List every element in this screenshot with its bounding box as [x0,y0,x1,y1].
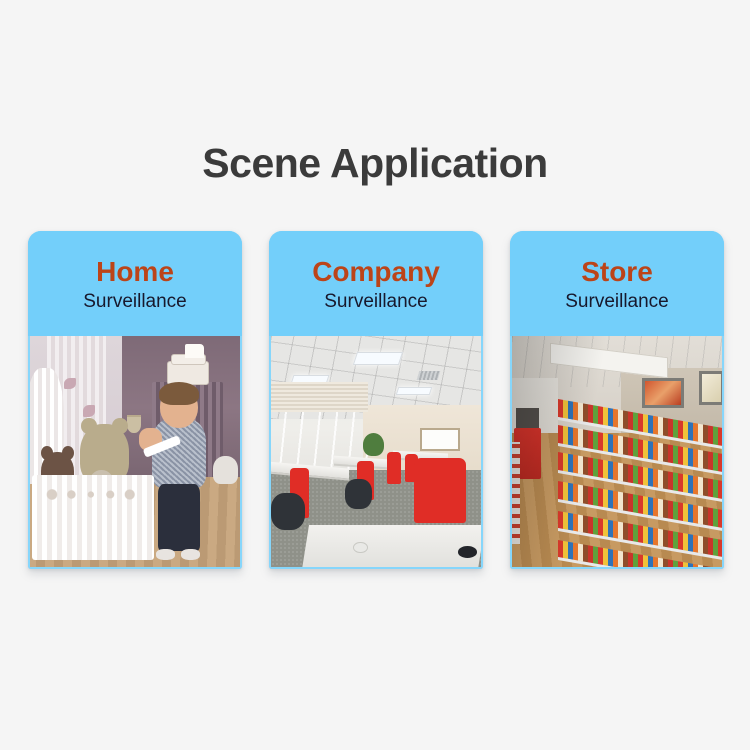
butterfly-decal-shape [83,405,96,417]
toddler-hair-shape [159,382,199,405]
air-vent-shape [417,371,441,380]
card-header-company: Company Surveillance [269,231,483,336]
page-title: Scene Application [0,137,750,189]
dark-office-chair-shape [271,493,305,530]
office-plant-shape [363,433,384,456]
toddler-legs-shape [158,484,200,551]
toddler-body-shape [152,419,207,488]
red-office-chair-shape [414,458,467,523]
red-office-chair-shape [387,452,402,484]
toddler-shoe-shape [156,549,175,561]
card-header-home: Home Surveillance [28,231,242,336]
card-title-home: Home [96,255,174,288]
scene-application-page: Scene Application Home Surveillance [0,0,750,750]
toy-cart-shape [32,475,154,560]
scene-card-company[interactable]: Company Surveillance [269,231,483,569]
wall-poster-shape [642,378,684,408]
giraffe-figurine-shape [185,344,204,358]
foreground-desk-shape [301,525,481,567]
computer-mouse-shape [458,546,477,558]
storage-boxes-shape [167,361,209,384]
scene-card-home[interactable]: Home Surveillance [28,231,242,569]
nursery-scene-illustration [30,336,240,567]
ceiling-light-shape [396,387,432,395]
card-title-company: Company [312,255,440,288]
card-subtitle-store: Surveillance [565,289,669,314]
scene-card-list: Home Surveillance [28,231,724,569]
left-shelf-rack-shape [512,442,520,544]
card-photo-store [510,336,724,569]
card-subtitle-home: Surveillance [83,289,187,314]
hanging-basket-shape [127,415,142,433]
wall-poster-shape [699,371,722,406]
whiteboard-shape [420,428,460,451]
snack-shelving-shape [558,396,722,567]
ceiling-light-shape [353,352,403,365]
dark-office-chair-shape [345,479,372,509]
window-blinds-shape [271,382,368,412]
office-scene-illustration [271,336,481,567]
scene-card-store[interactable]: Store Surveillance [510,231,724,569]
toy-dog-shape [213,456,238,484]
desk-cup-shape [353,542,368,554]
card-header-store: Store Surveillance [510,231,724,336]
card-photo-company [269,336,483,569]
toddler-shoe-shape [181,549,200,561]
card-photo-home [28,336,242,569]
card-title-store: Store [581,255,653,288]
card-subtitle-company: Surveillance [324,289,428,314]
store-scene-illustration [512,336,722,567]
